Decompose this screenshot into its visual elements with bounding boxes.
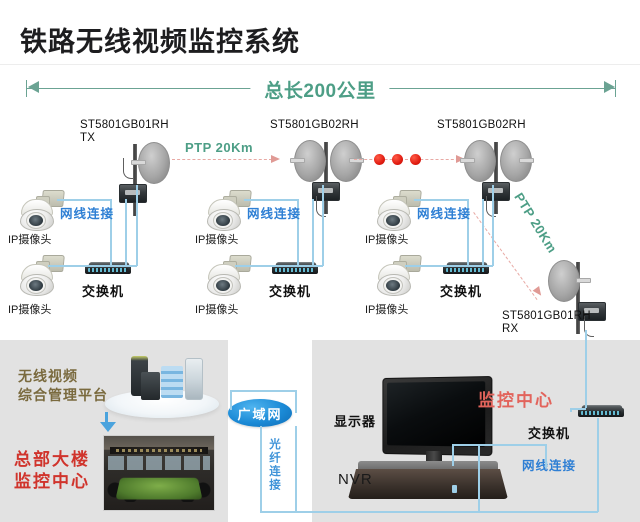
camera-lens-icon: [216, 215, 230, 226]
control-center-switch-label: 交换机: [528, 423, 570, 442]
total-length-label: 总长200公里: [250, 76, 389, 103]
cable-connection-label: 网线连接: [247, 203, 301, 222]
ethernet-wire: [125, 199, 127, 266]
platform-label-line2: 综合管理平台: [18, 385, 108, 405]
ethernet-wire: [312, 199, 314, 266]
ptp-link-2-label: PTP 20Km: [511, 190, 560, 256]
relay-ellipsis-dot: [374, 154, 385, 165]
nvr-status-led: [452, 485, 457, 493]
wire-switch-branch: [545, 444, 547, 468]
antenna-feed-arm: [131, 160, 146, 165]
room-led-wall: [110, 447, 208, 454]
ip-camera: [375, 190, 421, 230]
title-divider: [0, 64, 640, 65]
ip-camera-label: IP摄像头: [365, 234, 408, 248]
ethernet-wire-to-radio: [492, 185, 494, 266]
ip-camera-label: IP摄像头: [8, 304, 51, 318]
ptp-link-1-line: [172, 159, 272, 160]
ethernet-wire: [57, 199, 111, 201]
server-icon: [185, 358, 203, 400]
nvr-label: NVR: [338, 471, 373, 490]
ip-camera: [375, 255, 421, 295]
ethernet-wire: [312, 265, 323, 267]
nvr-top: [358, 461, 498, 470]
wire-nvr-to-bus: [478, 444, 480, 512]
camera-lens-icon: [216, 280, 230, 291]
ip-camera-label: IP摄像头: [195, 234, 238, 248]
ethernet-wire: [235, 265, 297, 267]
ip-camera: [18, 190, 64, 230]
camera-lens-icon: [386, 280, 400, 291]
control-center-title: 监控中心: [478, 386, 554, 411]
wan-cloud: 广域网: [228, 399, 292, 427]
ethernet-wire: [297, 265, 313, 267]
fiber-connection-label: 光纤连接: [266, 438, 282, 492]
ethernet-wire: [48, 265, 110, 267]
device-label-relay2-name: ST5801GB02RH: [437, 119, 526, 133]
switch-ports: [88, 268, 128, 272]
ethernet-wire: [110, 265, 126, 267]
hq-building-label-line2: 监控中心: [14, 471, 90, 493]
antenna-feed-arm: [519, 158, 534, 163]
relay-ellipsis-dot: [392, 154, 403, 165]
platform-flow-arrow-icon: [100, 422, 116, 432]
dimension-cap-left: [26, 80, 27, 97]
ptp-link-1-label: PTP 20Km: [185, 140, 253, 155]
fiber-wire-down: [260, 426, 262, 512]
wire-nvr-drop: [452, 444, 454, 466]
radio-cable: [123, 158, 133, 179]
switch-label: 交换机: [440, 281, 482, 300]
antenna-feed-arm: [460, 158, 475, 163]
radio-cable: [486, 196, 496, 217]
ip-camera: [205, 255, 251, 295]
wire-rx-to-switch: [585, 330, 587, 408]
antenna-feed-arm: [290, 158, 305, 163]
ip-camera-label: IP摄像头: [365, 304, 408, 318]
cable-connection-label: 网线连接: [417, 203, 471, 222]
camera-lens-icon: [29, 280, 43, 291]
diagram-canvas: 铁路无线视频监控系统 总长200公里 ST5801GB01RH TX PTP 2…: [0, 0, 640, 522]
wire-bottom-bus: [312, 511, 598, 513]
wan-wire-left-up: [230, 390, 232, 410]
ethernet-wire: [467, 265, 483, 267]
dimension-arrow-left-icon: [28, 81, 39, 93]
wire-nvr-link: [452, 444, 479, 446]
control-center-cable-label: 网线连接: [522, 455, 576, 474]
ethernet-wire-to-radio: [136, 185, 138, 266]
switch-label: 交换机: [269, 281, 311, 300]
ethernet-wire: [482, 265, 493, 267]
device-label-rx-role: RX: [502, 323, 518, 337]
wan-wire-right-down: [295, 426, 297, 512]
radio-box: [119, 184, 147, 203]
page-title: 铁路无线视频监控系统: [20, 20, 300, 59]
ptp-link-1-arrow-icon: [271, 155, 280, 163]
device-label-tx-name: ST5801GB01RH: [80, 119, 169, 133]
cable-connection-label: 网线连接: [60, 203, 114, 222]
dimension-cap-right: [615, 80, 616, 97]
hq-building-label-line1: 总部大楼: [14, 449, 90, 471]
database-stack-icon: [161, 366, 183, 398]
ethernet-wire-to-radio: [322, 185, 324, 266]
device-label-rx-name: ST5801GB01RH: [502, 310, 591, 324]
device-label-relay1-name: ST5801GB02RH: [270, 119, 359, 133]
device-label-tx-role: TX: [80, 132, 95, 146]
room-table: [115, 478, 202, 500]
ip-camera-label: IP摄像头: [8, 234, 51, 248]
camera-lens-icon: [386, 215, 400, 226]
radio-cable: [316, 196, 326, 217]
ethernet-wire: [244, 199, 298, 201]
room-windows: [108, 456, 210, 470]
relay-ellipsis-dot: [410, 154, 421, 165]
ethernet-wire: [125, 265, 137, 267]
ethernet-wire: [482, 199, 484, 266]
ethernet-wire: [414, 199, 468, 201]
switch-label: 交换机: [82, 281, 124, 300]
server-icon: [141, 372, 160, 400]
ip-camera-label: IP摄像头: [195, 304, 238, 318]
fiber-wire-bottom: [260, 511, 312, 513]
wire-switch-branch-h: [478, 444, 546, 446]
monitor-label: 显示器: [334, 411, 376, 430]
wire-switch-down: [597, 418, 599, 512]
switch-ports: [581, 411, 621, 415]
switch-ports: [275, 268, 315, 272]
dimension-arrow-right-icon: [604, 81, 615, 93]
antenna-feed-arm: [576, 278, 591, 283]
ptp-link-mid-line: [354, 159, 464, 160]
ip-camera: [18, 255, 64, 295]
wan-wire-right-up: [295, 390, 297, 413]
ip-camera: [205, 190, 251, 230]
monitor-screen: [387, 381, 485, 446]
conference-room-photo: [103, 435, 215, 511]
wire-switch-in: [570, 408, 586, 410]
switch-ports: [446, 268, 486, 272]
ethernet-wire: [405, 265, 467, 267]
platform-label-line1: 无线视频: [18, 366, 78, 386]
camera-lens-icon: [29, 215, 43, 226]
management-platform-cluster: [105, 352, 219, 420]
wire-switch-in-drop: [570, 408, 572, 412]
wan-label: 广域网: [237, 404, 282, 423]
wan-wire-top: [230, 390, 296, 392]
